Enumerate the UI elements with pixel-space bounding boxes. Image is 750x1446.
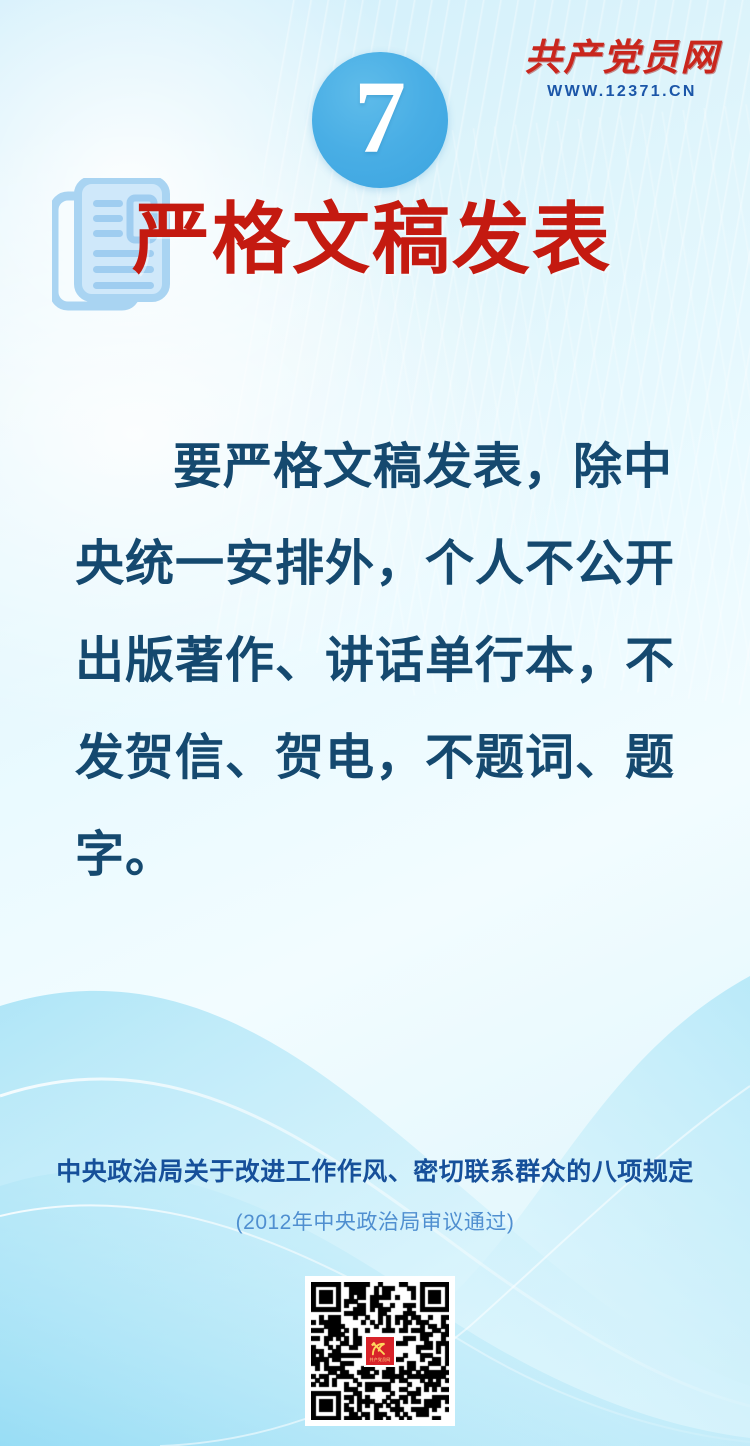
qr-center-emblem: 共产党员网 <box>364 1335 396 1367</box>
site-logo-url: WWW.12371.CN <box>522 83 722 101</box>
number-badge-value: 7 <box>354 66 406 170</box>
qr-code-matrix: 共产党员网 <box>311 1282 449 1420</box>
body-text: 要严格文稿发表，除中央统一安排外，个人不公开出版著作、讲话单行本，不发贺信、贺电… <box>75 418 675 903</box>
footer-subtitle: (2012年中央政治局审议通过) <box>0 1206 750 1236</box>
qr-code[interactable]: 共产党员网 <box>305 1276 455 1426</box>
footer-title: 中央政治局关于改进工作作风、密切联系群众的八项规定 <box>0 1152 750 1188</box>
number-badge: 7 <box>312 52 448 188</box>
page-title: 严格文稿发表 <box>132 198 612 284</box>
qr-emblem-label: 共产党员网 <box>370 1358 391 1362</box>
site-logo[interactable]: 共产党员网 WWW.12371.CN <box>522 40 722 101</box>
hammer-and-sickle-icon <box>369 1341 391 1357</box>
poster-canvas: 共产党员网 WWW.12371.CN 7 严格文稿发表 要严格文稿发表，除中央统… <box>0 0 750 1446</box>
site-logo-text: 共产党员网 <box>522 40 722 79</box>
